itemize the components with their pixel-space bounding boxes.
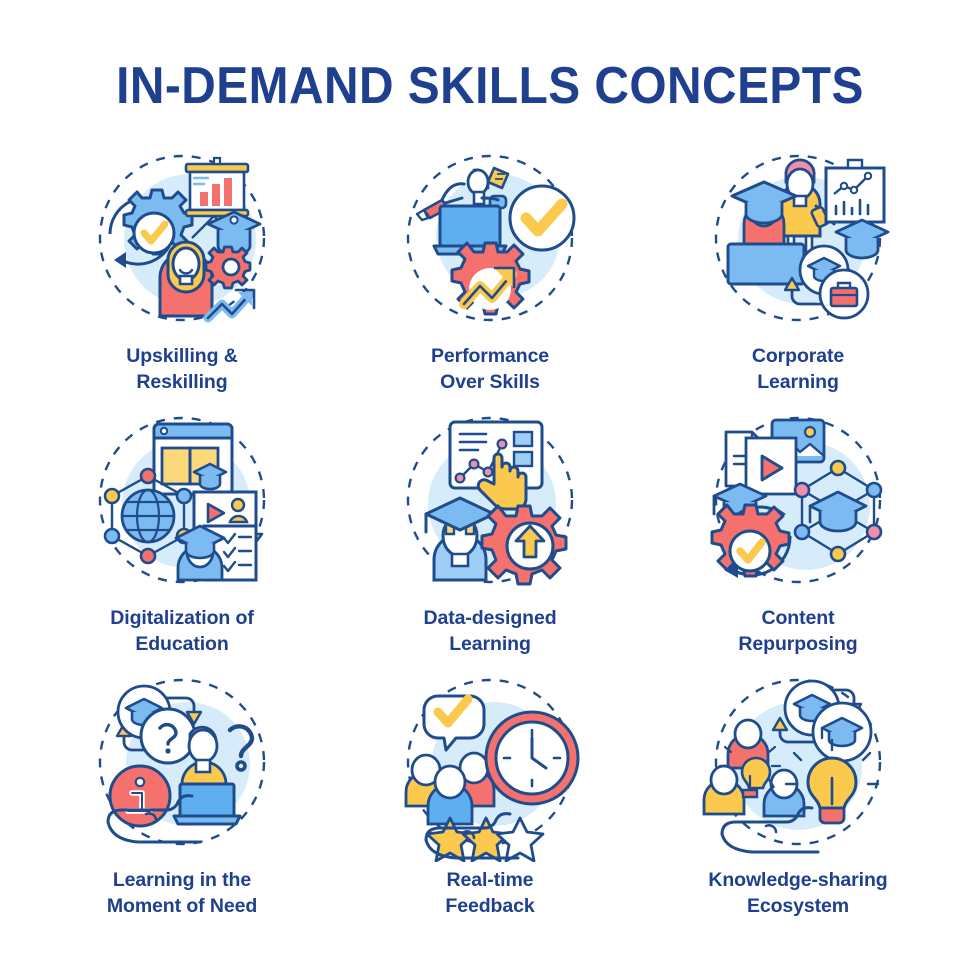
concept-label: Knowledge-sharing Ecosystem (708, 868, 887, 919)
concept-card-real-time-feedback[interactable]: Real-time Feedback (336, 672, 644, 934)
concept-card-digitalization-of-education[interactable]: Digitalization of Education (28, 410, 336, 672)
woman-avatar-icon (160, 242, 212, 316)
briefcase-circle-icon (820, 270, 868, 318)
clock-icon (486, 712, 578, 804)
check-circle-icon (510, 186, 574, 250)
concept-label: Performance Over Skills (431, 344, 549, 395)
small-gear-icon (206, 247, 250, 288)
concept-label: Digitalization of Education (110, 606, 253, 657)
concept-icon-sheet: IN-DEMAND SKILLS CONCEPTS (0, 0, 980, 980)
gear-check-cycle-icon (712, 505, 790, 578)
concept-label: Corporate Learning (752, 344, 844, 395)
graduation-cap-circle-icon-2 (813, 703, 871, 761)
concept-icon-knowledge-sharing-ecosystem (698, 672, 898, 862)
concept-label: Upskilling & Reskilling (126, 344, 237, 395)
concept-label: Learning in the Moment of Need (107, 868, 257, 919)
concept-icon-learning-in-the-moment-of-need (82, 672, 282, 862)
concept-label: Real-time Feedback (445, 868, 534, 919)
info-circle-icon (110, 766, 170, 826)
concept-card-content-repurposing[interactable]: Content Repurposing (644, 410, 952, 672)
concept-card-performance-over-skills[interactable]: Performance Over Skills (336, 148, 644, 410)
chart-board-icon (826, 160, 884, 222)
graduate-checklist-icon (176, 526, 256, 580)
concept-card-data-designed-learning[interactable]: Data-designed Learning (336, 410, 644, 672)
concept-card-learning-in-the-moment-of-need[interactable]: Learning in the Moment of Need (28, 672, 336, 934)
concept-icon-content-repurposing (698, 410, 898, 600)
gear-up-arrow-icon (482, 506, 566, 584)
browser-window-icon (154, 424, 232, 494)
question-mark-circle-icon (141, 709, 195, 763)
concept-card-knowledge-sharing-ecosystem[interactable]: Knowledge-sharing Ecosystem (644, 672, 952, 934)
page-title: IN-DEMAND SKILLS CONCEPTS (39, 56, 941, 116)
concept-icon-digitalization-of-education (82, 410, 282, 600)
concept-grid: Upskilling & Reskilling (28, 148, 952, 934)
concept-label: Content Repurposing (738, 606, 857, 657)
concept-icon-real-time-feedback (390, 672, 590, 862)
concept-icon-data-designed-learning (390, 410, 590, 600)
concept-card-corporate-learning[interactable]: Corporate Learning (644, 148, 952, 410)
gear-growth-arrow-icon (452, 243, 529, 314)
concept-icon-performance-over-skills (390, 148, 590, 338)
concept-icon-corporate-learning (698, 148, 898, 338)
concept-label: Data-designed Learning (423, 606, 556, 657)
concept-card-upskilling-reskilling[interactable]: Upskilling & Reskilling (28, 148, 336, 410)
concept-icon-upskilling-reskilling (82, 148, 282, 338)
